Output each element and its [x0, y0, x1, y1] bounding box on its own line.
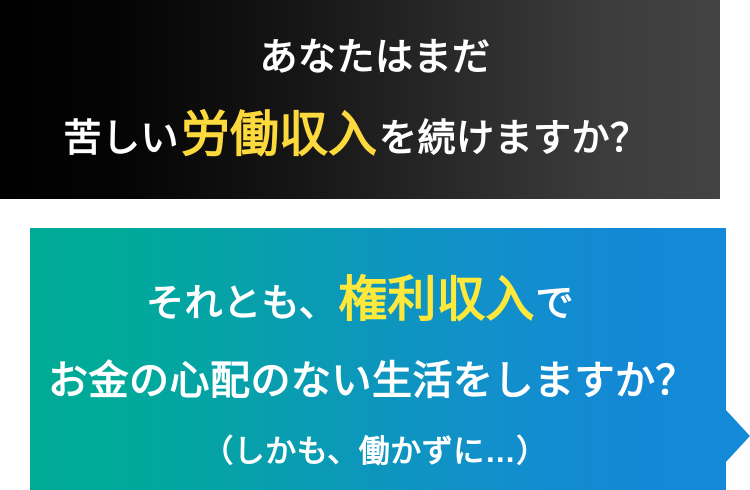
dark-headline-line-2-prefix: 苦しい	[63, 120, 179, 158]
gradient-headline-line-1: それとも、権利収入で	[146, 276, 574, 325]
dark-headline-line-2-suffix: を続けますか？	[379, 120, 649, 158]
gradient-headline-highlight: 権利収入	[338, 276, 534, 325]
promo-banner-stage: あなたはまだ 苦しい労働収入を続けますか？ それとも、権利収入で お金の心配のな…	[0, 0, 750, 490]
dark-headline-line-1: あなたはまだ	[259, 39, 490, 77]
dark-headline-highlight: 労働収入	[181, 111, 377, 160]
arrow-right-icon	[726, 410, 750, 462]
gradient-headline-line-1-prefix: それとも、	[146, 285, 337, 323]
gradient-headline-line-2: お金の心配のない生活をしますか？	[48, 361, 696, 401]
gradient-headline-banner: それとも、権利収入で お金の心配のない生活をしますか？ （しかも、働かずに…）	[30, 228, 726, 490]
gradient-headline-line-3: （しかも、働かずに…）	[202, 436, 548, 467]
dark-headline-banner: あなたはまだ 苦しい労働収入を続けますか？	[0, 0, 720, 199]
dark-headline-line-2: 苦しい労働収入を続けますか？	[63, 111, 648, 160]
gradient-headline-line-1-suffix: で	[535, 285, 574, 323]
